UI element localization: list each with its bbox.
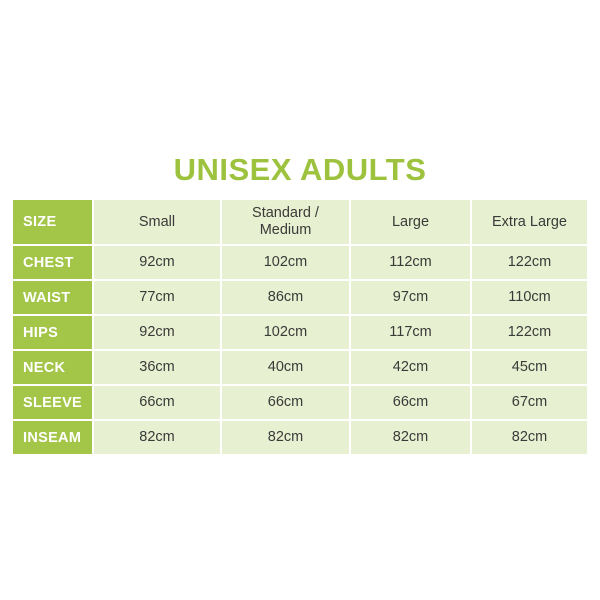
- row-label-sleeve: SLEEVE: [13, 386, 92, 421]
- cell-hips-large: 117cm: [349, 316, 470, 351]
- column-header-extra-large-label: Extra Large: [472, 214, 587, 231]
- table-body: CHEST 92cm 102cm 112cm 122cm WAIST 77cm …: [13, 246, 587, 454]
- cell-chest-standard-medium: 102cm: [220, 246, 349, 281]
- column-header-size: SIZE: [13, 200, 92, 246]
- cell-inseam-extra-large: 82cm: [470, 421, 587, 454]
- cell-sleeve-extra-large: 67cm: [470, 386, 587, 421]
- column-header-size-label: SIZE: [23, 214, 92, 230]
- row-label-hips: HIPS: [13, 316, 92, 351]
- size-chart-table-container: SIZE Small Standard / Medium Large Extra…: [13, 200, 587, 454]
- cell-waist-standard-medium: 86cm: [220, 281, 349, 316]
- page-title: UNISEX ADULTS: [0, 152, 600, 188]
- row-label-chest: CHEST: [13, 246, 92, 281]
- cell-waist-large: 97cm: [349, 281, 470, 316]
- column-header-small-label: Small: [94, 214, 220, 231]
- table-row: CHEST 92cm 102cm 112cm 122cm: [13, 246, 587, 281]
- row-label-waist: WAIST: [13, 281, 92, 316]
- column-header-large: Large: [349, 200, 470, 246]
- table-header: SIZE Small Standard / Medium Large Extra…: [13, 200, 587, 246]
- cell-chest-extra-large: 122cm: [470, 246, 587, 281]
- cell-hips-small: 92cm: [92, 316, 220, 351]
- cell-inseam-small: 82cm: [92, 421, 220, 454]
- column-header-standard-medium-label: Standard / Medium: [222, 205, 349, 239]
- cell-waist-small: 77cm: [92, 281, 220, 316]
- cell-waist-extra-large: 110cm: [470, 281, 587, 316]
- cell-neck-standard-medium: 40cm: [220, 351, 349, 386]
- row-label-neck: NECK: [13, 351, 92, 386]
- column-header-large-label: Large: [351, 214, 470, 231]
- table-header-row: SIZE Small Standard / Medium Large Extra…: [13, 200, 587, 246]
- cell-neck-small: 36cm: [92, 351, 220, 386]
- table-row: NECK 36cm 40cm 42cm 45cm: [13, 351, 587, 386]
- table-row: WAIST 77cm 86cm 97cm 110cm: [13, 281, 587, 316]
- table-row: HIPS 92cm 102cm 117cm 122cm: [13, 316, 587, 351]
- cell-chest-large: 112cm: [349, 246, 470, 281]
- row-label-inseam: INSEAM: [13, 421, 92, 454]
- cell-inseam-large: 82cm: [349, 421, 470, 454]
- size-chart-page: UNISEX ADULTS SIZE Small: [0, 0, 600, 600]
- cell-sleeve-small: 66cm: [92, 386, 220, 421]
- cell-neck-large: 42cm: [349, 351, 470, 386]
- cell-neck-extra-large: 45cm: [470, 351, 587, 386]
- column-header-standard-medium: Standard / Medium: [220, 200, 349, 246]
- size-chart-table: SIZE Small Standard / Medium Large Extra…: [13, 200, 587, 454]
- cell-sleeve-large: 66cm: [349, 386, 470, 421]
- cell-hips-extra-large: 122cm: [470, 316, 587, 351]
- cell-sleeve-standard-medium: 66cm: [220, 386, 349, 421]
- table-row: INSEAM 82cm 82cm 82cm 82cm: [13, 421, 587, 454]
- cell-hips-standard-medium: 102cm: [220, 316, 349, 351]
- cell-inseam-standard-medium: 82cm: [220, 421, 349, 454]
- cell-chest-small: 92cm: [92, 246, 220, 281]
- column-header-small: Small: [92, 200, 220, 246]
- column-header-extra-large: Extra Large: [470, 200, 587, 246]
- table-row: SLEEVE 66cm 66cm 66cm 67cm: [13, 386, 587, 421]
